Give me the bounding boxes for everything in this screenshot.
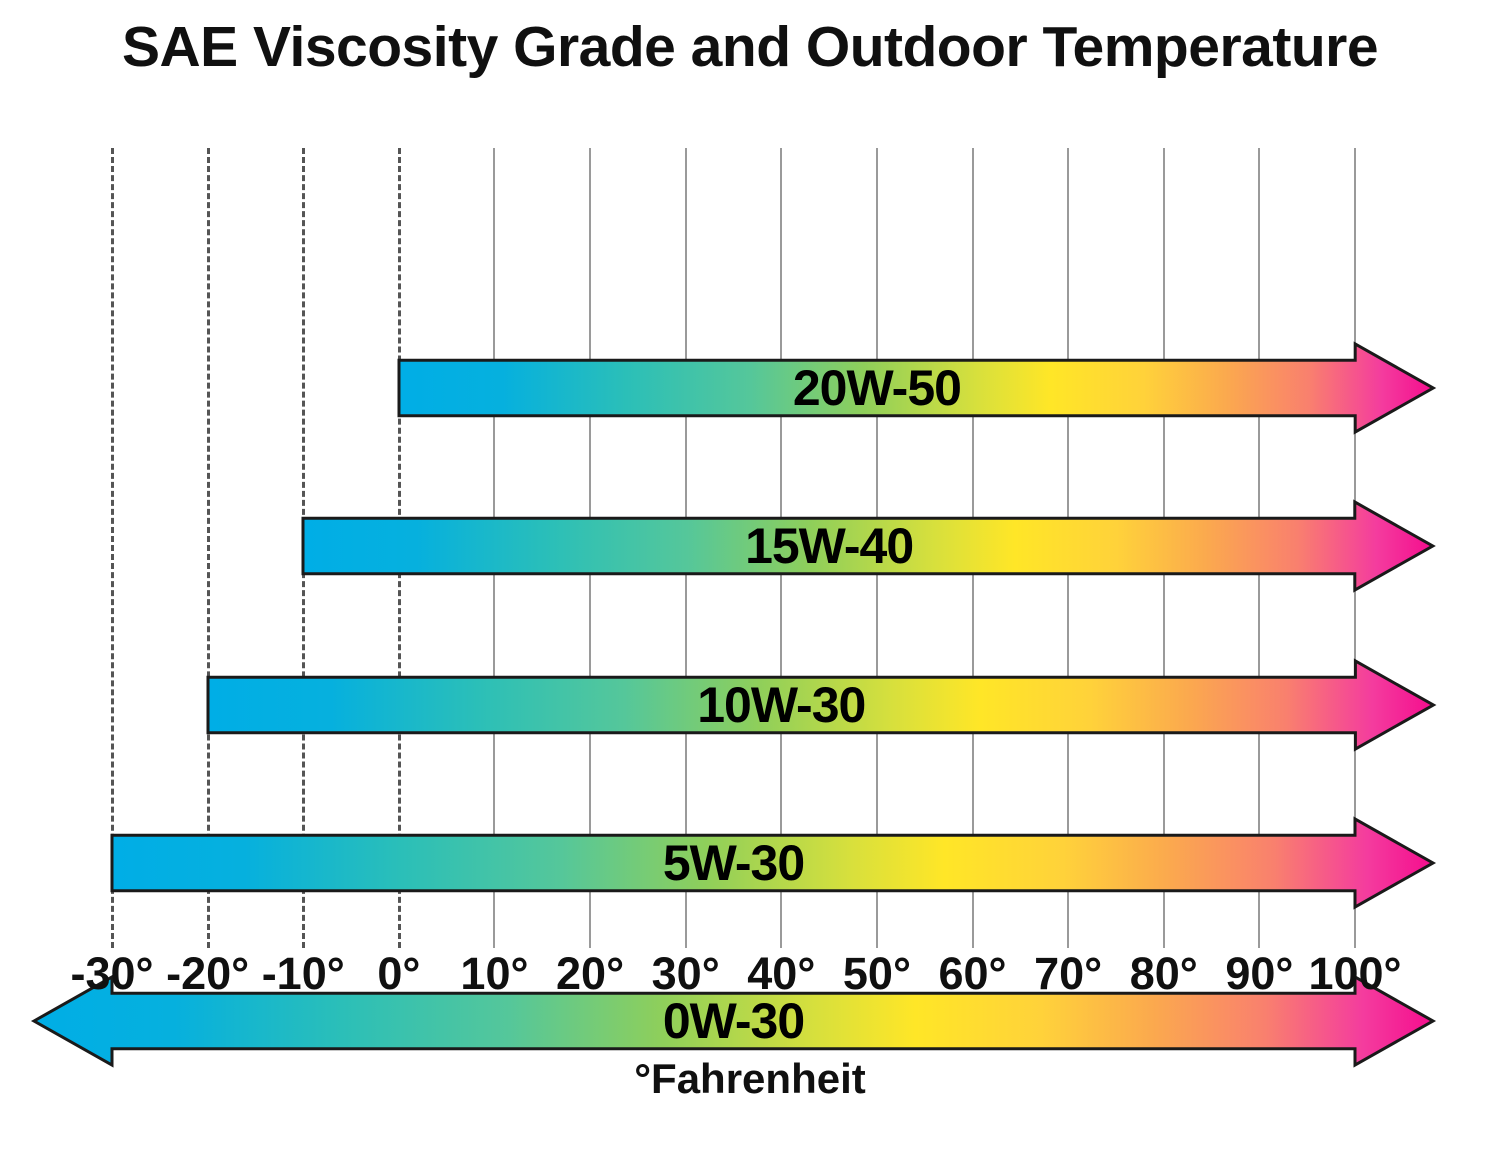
bar-shape-20w-50 xyxy=(399,344,1433,432)
x-axis-title: °Fahrenheit xyxy=(0,1055,1500,1103)
x-tick-30: 30° xyxy=(652,948,720,1000)
bar-20w-50[interactable]: 20W-50 xyxy=(399,344,1433,432)
bar-10w-30[interactable]: 10W-30 xyxy=(208,661,1433,749)
x-tick-20: 20° xyxy=(556,948,624,1000)
x-tick--10: -10° xyxy=(262,948,345,1000)
bar-shape-10w-30 xyxy=(208,661,1433,749)
chart-root: SAE Viscosity Grade and Outdoor Temperat… xyxy=(0,0,1500,1162)
x-tick--30: -30° xyxy=(70,948,153,1000)
x-tick-60: 60° xyxy=(939,948,1007,1000)
page-title: SAE Viscosity Grade and Outdoor Temperat… xyxy=(0,14,1500,80)
x-tick--20: -20° xyxy=(166,948,249,1000)
x-tick-100: 100° xyxy=(1308,948,1401,1000)
x-tick-10: 10° xyxy=(460,948,528,1000)
x-tick-40: 40° xyxy=(747,948,815,1000)
x-tick-90: 90° xyxy=(1225,948,1293,1000)
bar-shape-5w-30 xyxy=(112,819,1433,907)
x-tick-50: 50° xyxy=(843,948,911,1000)
bars-layer: 20W-5015W-4010W-305W-300W-30 xyxy=(0,148,1500,948)
x-axis-tick-labels: -30°-20°-10°0°10°20°30°40°50°60°70°80°90… xyxy=(0,948,1500,1008)
bar-shape-15w-40 xyxy=(303,502,1433,590)
bar-15w-40[interactable]: 15W-40 xyxy=(303,502,1433,590)
x-tick-0: 0° xyxy=(377,948,420,1000)
x-tick-70: 70° xyxy=(1034,948,1102,1000)
plot-area: 20W-5015W-4010W-305W-300W-30 xyxy=(0,148,1500,948)
bar-5w-30[interactable]: 5W-30 xyxy=(112,819,1433,907)
x-tick-80: 80° xyxy=(1130,948,1198,1000)
